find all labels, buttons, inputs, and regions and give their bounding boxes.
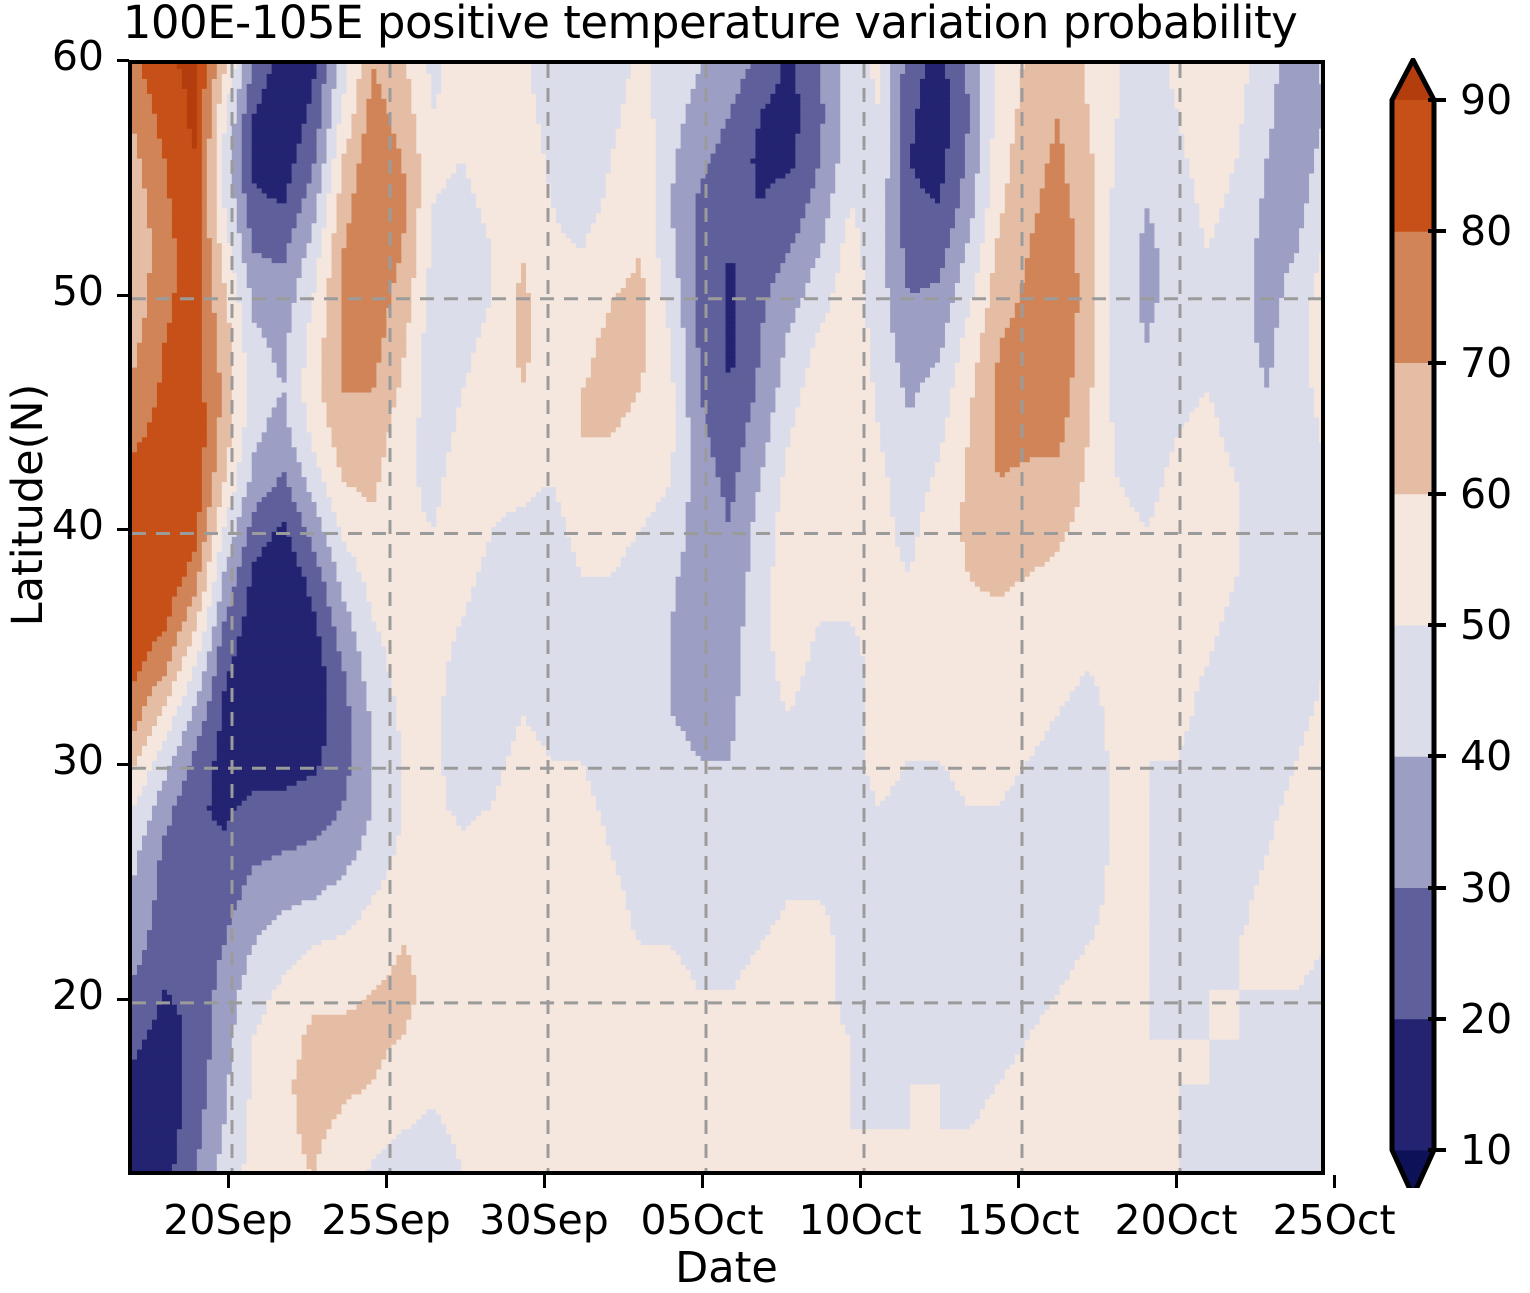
- contour-bands: [132, 64, 1325, 1175]
- colorbar-tick-label-80: 80: [1460, 207, 1512, 255]
- y-tick-mark-30: [117, 763, 129, 766]
- figure-root: 100E-105E positive temperature variation…: [0, 0, 1530, 1290]
- y-tick-mark-40: [117, 528, 129, 531]
- y-tick-mark-60: [117, 59, 129, 62]
- x-tick-mark-10Oct: [859, 1175, 862, 1188]
- plot-area: [128, 60, 1325, 1175]
- colorbar-gradient: [1382, 58, 1468, 1188]
- y-axis-label: Latitude(N): [3, 335, 53, 675]
- x-tick-mark-30Sep: [543, 1175, 546, 1188]
- chart-title: 100E-105E positive temperature variation…: [0, 0, 1420, 49]
- colorbar-tick-mark-80: [1428, 229, 1446, 233]
- colorbar-tick-label-70: 70: [1460, 339, 1512, 387]
- y-tick-label-20: 20: [0, 971, 104, 1019]
- colorbar-tick-label-60: 60: [1460, 470, 1512, 518]
- x-tick-label-25Oct: 25Oct: [1272, 1196, 1395, 1244]
- colorbar-tick-label-20: 20: [1460, 995, 1512, 1043]
- x-tick-mark-05Oct: [701, 1175, 704, 1188]
- x-tick-mark-25Sep: [385, 1175, 388, 1188]
- y-tick-label-30: 30: [0, 736, 104, 784]
- colorbar-tick-mark-40: [1428, 754, 1446, 758]
- x-tick-label-20Sep: 20Sep: [163, 1196, 292, 1244]
- colorbar-tick-mark-50: [1428, 623, 1446, 627]
- x-tick-label-10Oct: 10Oct: [798, 1196, 921, 1244]
- colorbar-tick-label-10: 10: [1460, 1126, 1512, 1174]
- y-tick-label-50: 50: [0, 267, 104, 315]
- colorbar-tick-label-30: 30: [1460, 864, 1512, 912]
- contour-plot: [132, 64, 1325, 1175]
- x-tick-mark-25Oct: [1333, 1175, 1336, 1188]
- x-tick-mark-15Oct: [1017, 1175, 1020, 1188]
- colorbar-tick-mark-70: [1428, 361, 1446, 365]
- x-tick-mark-20Oct: [1175, 1175, 1178, 1188]
- colorbar-tick-label-40: 40: [1460, 732, 1512, 780]
- colorbar-tick-mark-90: [1428, 98, 1446, 102]
- y-tick-mark-20: [117, 998, 129, 1001]
- y-tick-label-60: 60: [0, 32, 104, 80]
- colorbar-tick-mark-30: [1428, 886, 1446, 890]
- colorbar-tick-label-50: 50: [1460, 601, 1512, 649]
- x-tick-label-30Sep: 30Sep: [479, 1196, 608, 1244]
- x-tick-label-05Oct: 05Oct: [640, 1196, 763, 1244]
- x-axis-label: Date: [128, 1243, 1325, 1293]
- x-tick-label-15Oct: 15Oct: [956, 1196, 1079, 1244]
- y-tick-mark-50: [117, 294, 129, 297]
- x-tick-label-20Oct: 20Oct: [1114, 1196, 1237, 1244]
- x-tick-mark-20Sep: [227, 1175, 230, 1188]
- x-tick-label-25Sep: 25Sep: [321, 1196, 450, 1244]
- colorbar-tick-label-90: 90: [1460, 76, 1512, 124]
- colorbar-tick-mark-20: [1428, 1017, 1446, 1021]
- colorbar: 102030405060708090: [1382, 58, 1468, 1188]
- colorbar-tick-mark-60: [1428, 492, 1446, 496]
- colorbar-tick-mark-10: [1428, 1148, 1446, 1152]
